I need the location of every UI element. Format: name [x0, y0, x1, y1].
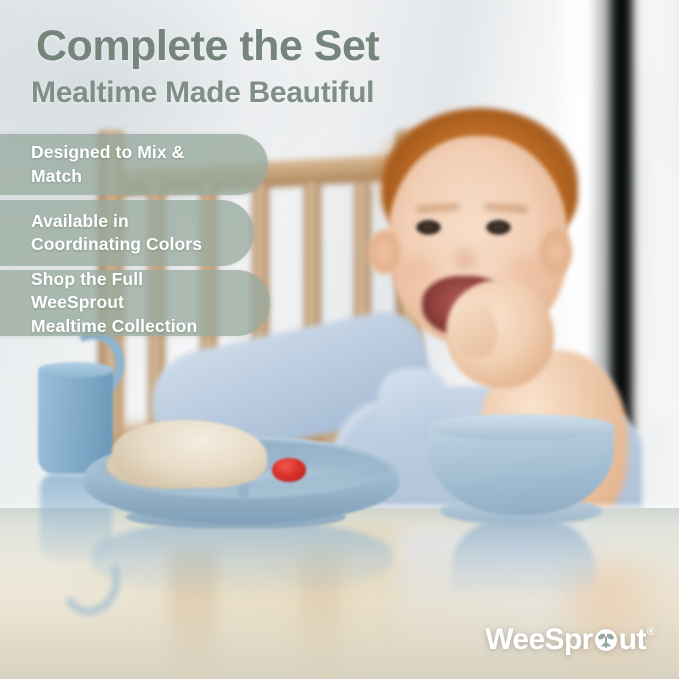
registered-trademark-symbol: ® — [647, 627, 655, 638]
subheadline: Mealtime Made Beautiful — [31, 76, 374, 109]
feature-pill-2[interactable]: Available in Coordinating Colors — [0, 200, 254, 266]
feature-pill-2-label: Available in Coordinating Colors — [0, 210, 242, 256]
raspberry — [272, 458, 306, 482]
brand-logo-wordmark: WeeSprut — [485, 625, 646, 655]
feature-pill-3[interactable]: Shop the Full WeeSprout Mealtime Collect… — [0, 270, 270, 336]
child-eye-left — [416, 220, 441, 235]
headline: Complete the Set — [36, 24, 379, 69]
child-eye-right — [486, 220, 511, 235]
brand-logo-text-before: WeeSpr — [485, 625, 593, 655]
sippy-cup-rim — [38, 362, 113, 378]
brand-logo-text-after: ut — [619, 625, 646, 655]
food-portion — [112, 420, 267, 488]
brand-logo: WeeSprut ® — [485, 625, 655, 655]
bowl-reflection — [452, 518, 594, 598]
bowl-rim — [428, 414, 614, 440]
child-nose — [448, 240, 482, 270]
feature-pill-3-label: Shop the Full WeeSprout Mealtime Collect… — [0, 268, 270, 337]
sprout-icon — [594, 625, 618, 649]
feature-pill-1[interactable]: Designed to Mix & Match — [0, 134, 268, 195]
plate-reflection — [92, 520, 392, 596]
product-marketing-banner: Complete the Set Mealtime Made Beautiful… — [0, 0, 679, 679]
feature-pill-1-label: Designed to Mix & Match — [0, 141, 268, 187]
